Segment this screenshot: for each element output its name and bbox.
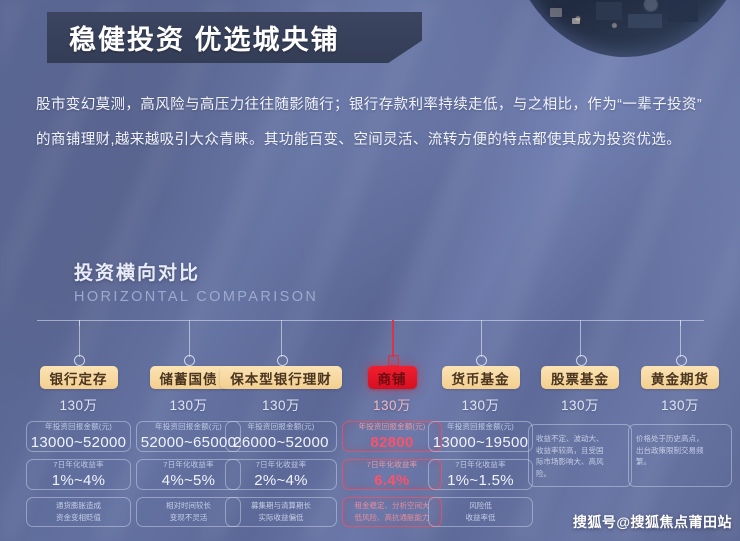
annualized-rate-value: 6.4% [374,472,409,489]
column-note-text: 价格处于历史高点，出台政策限制交易频繁。 [636,433,724,468]
annualized-rate-label: 7日年化收益率 [53,460,104,470]
column-header-pill[interactable]: 黄金期货 [641,366,719,389]
annual-return-cell: 年投资回报金额(元)13000~19500 [428,421,533,452]
column-amount: 130万 [661,394,699,414]
annualized-rate-value: 1%~4% [52,472,106,489]
annual-return-value: 26000~52000 [233,434,328,451]
timeline-stem [189,320,190,357]
header-banner: 稳健投资 优选城央铺 [47,12,422,63]
column-note-text: 募集期与清算期长实际收益偏低 [251,500,311,523]
timeline-node[interactable] [388,355,399,366]
annual-return-value: 82800 [370,434,413,451]
column-amount: 130万 [373,394,411,414]
annualized-rate-cell: 7日年化收益率1%~1.5% [428,459,533,490]
timeline-stem [481,320,482,357]
cityscape-photo-fragment [500,0,740,57]
comparison-column[interactable]: 黄金期货130万价格处于历史高点，出台政策限制交易频繁。 [628,366,732,487]
intro-paragraph: 股市变幻莫测，高风险与高压力往往随影随行；银行存款利率持续走低，与之相比，作为“… [36,88,708,158]
comparison-column[interactable]: 商铺130万年投资回报金额(元)828007日年化收益率6.4%租金稳定、分析空… [342,366,442,527]
poster-root: 稳健投资 优选城央铺 股市变幻莫测，高风险与高压力往往随影随行；银行存款利率持续… [0,0,740,541]
column-amount: 130万 [461,394,499,414]
timeline-node[interactable] [184,355,195,366]
annualized-rate-cell: 7日年化收益率6.4% [342,459,442,490]
section-title-en: HORIZONTAL COMPARISON [74,289,318,305]
intro-paragraph-block: 股市变幻莫测，高风险与高压力往往随影随行；银行存款利率持续走低，与之相比，作为“… [36,88,708,158]
column-note-cell: 价格处于历史高点，出台政策限制交易频繁。 [628,424,732,487]
comparison-column[interactable]: 银行定存130万年投资回报金额(元)13000~520007日年化收益率1%~4… [26,366,131,527]
annualized-rate-label: 7日年化收益率 [367,460,418,470]
column-header-pill[interactable]: 储蓄国债 [150,366,228,389]
column-note-cell: 募集期与清算期长实际收益偏低 [225,497,337,527]
annualized-rate-label: 7日年化收益率 [455,460,506,470]
annual-return-value: 52000~65000 [141,434,236,451]
annualized-rate-cell: 7日年化收益率2%~4% [225,459,337,490]
annualized-rate-value: 1%~1.5% [447,472,514,489]
timeline-node[interactable] [676,355,687,366]
column-note-text: 租金稳定、分析空间大低风险、高抗通胀能力 [355,500,430,523]
timeline-node[interactable] [576,355,587,366]
column-amount: 130万 [169,394,207,414]
column-header-pill[interactable]: 商铺 [368,366,417,389]
annual-return-label: 年投资回报金额(元) [155,422,222,432]
column-note-text: 风险低收益率低 [466,500,496,523]
section-title-cn: 投资横向对比 [74,258,318,285]
comparison-column[interactable]: 货币基金130万年投资回报金额(元)13000~195007日年化收益率1%~1… [428,366,533,527]
watermark: 搜狐号@搜狐焦点莆田站 [573,512,732,532]
annualized-rate-label: 7日年化收益率 [256,460,307,470]
annual-return-label: 年投资回报金额(元) [447,422,514,432]
timeline-stem [281,320,282,357]
annualized-rate-cell: 7日年化收益率1%~4% [26,459,131,490]
timeline-rail-cap [680,320,681,326]
annual-return-value: 13000~52000 [31,434,126,451]
annual-return-value: 13000~19500 [433,434,528,451]
timeline-rail [37,320,704,321]
column-header-pill[interactable]: 股票基金 [541,366,619,389]
timeline-stem [392,320,394,357]
column-note-text: 通货膨胀造成资金变相贬值 [56,500,101,523]
annual-return-label: 年投资回报金额(元) [248,422,315,432]
annual-return-cell: 年投资回报金额(元)26000~52000 [225,421,337,452]
column-amount: 130万 [561,394,599,414]
column-amount: 130万 [59,394,97,414]
section-heading: 投资横向对比 HORIZONTAL COMPARISON [74,258,318,305]
comparison-columns: 银行定存130万年投资回报金额(元)13000~520007日年化收益率1%~4… [0,366,740,531]
column-header-pill[interactable]: 货币基金 [442,366,520,389]
annualized-rate-label: 7日年化收益率 [163,460,214,470]
timeline-rail-group [0,316,740,372]
timeline-node[interactable] [476,355,487,366]
annual-return-cell: 年投资回报金额(元)82800 [342,421,442,452]
timeline-node[interactable] [277,355,288,366]
annual-return-cell: 年投资回报金额(元)13000~52000 [26,421,131,452]
annual-return-label: 年投资回报金额(元) [45,422,112,432]
column-header-pill[interactable]: 银行定存 [40,366,118,389]
column-note-cell: 风险低收益率低 [428,497,533,527]
timeline-rail-cap [79,320,80,326]
column-note-text: 收益不定、波动大、收益率较高，且受国际市场影响大、高风险。 [536,433,624,480]
column-note-cell: 通货膨胀造成资金变相贬值 [26,497,131,527]
column-note-cell: 租金稳定、分析空间大低风险、高抗通胀能力 [342,497,442,527]
column-note-text: 相对时间较长变现不灵活 [166,500,211,523]
timeline-stem [580,320,581,357]
comparison-column[interactable]: 股票基金130万收益不定、波动大、收益率较高，且受国际市场影响大、高风险。 [528,366,632,487]
annual-return-label: 年投资回报金额(元) [359,422,426,432]
comparison-column[interactable]: 保本型银行理财130万年投资回报金额(元)26000~520007日年化收益率2… [225,366,337,527]
annualized-rate-value: 2%~4% [254,472,308,489]
column-header-pill[interactable]: 保本型银行理财 [220,366,342,389]
column-note-cell: 收益不定、波动大、收益率较高，且受国际市场影响大、高风险。 [528,424,632,487]
page-title: 稳健投资 优选城央铺 [69,18,340,57]
column-amount: 130万 [262,394,300,414]
annualized-rate-value: 4%~5% [162,472,216,489]
timeline-node[interactable] [74,355,85,366]
